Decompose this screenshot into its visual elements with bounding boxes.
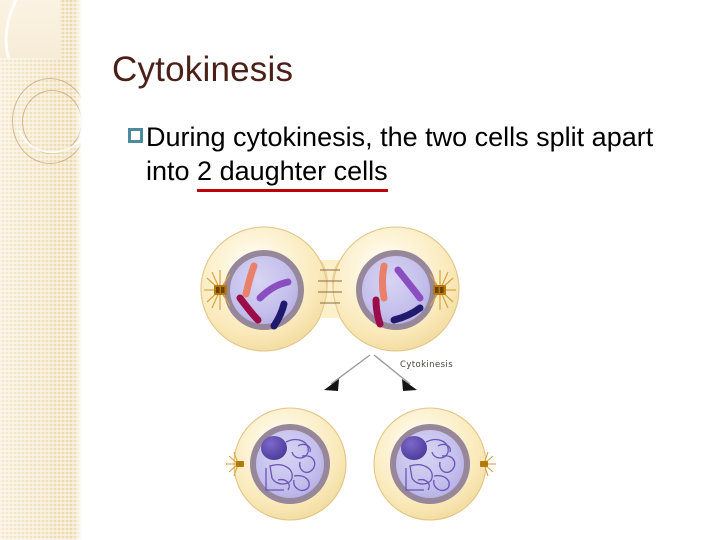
figure-caption: Cytokinesis [400, 360, 453, 370]
parent-cell-pair [198, 227, 459, 351]
arrow-right-head [402, 379, 417, 391]
page-title: Cytokinesis [112, 50, 293, 90]
daughter-cell-right [374, 408, 496, 520]
sidebar-edge-fade [77, 0, 82, 540]
magenta-chromosome [376, 300, 380, 324]
arrow-left-shaft [331, 355, 370, 384]
salmon-chromosome [383, 266, 385, 298]
bullet-text-underlined: 2 daughter cells [197, 154, 388, 188]
daughter-cell-left [226, 408, 346, 520]
hollow-square-bullet-icon [128, 128, 143, 143]
bullet-text: During cytokinesis, the two cells split … [146, 120, 688, 188]
nucleolus [261, 436, 287, 460]
slide-canvas: Cytokinesis During cytokinesis, the two … [0, 0, 720, 540]
right-nucleus [362, 256, 430, 324]
cytokinesis-diagram: Cytokinesis [198, 212, 528, 534]
bullet-list-item: During cytokinesis, the two cells split … [128, 120, 688, 188]
decorative-sidebar [0, 0, 82, 540]
arrow-left-head [324, 379, 339, 391]
daughter-cell-pair [226, 408, 496, 520]
body-text-block: During cytokinesis, the two cells split … [128, 120, 688, 188]
nucleolus [401, 436, 427, 460]
